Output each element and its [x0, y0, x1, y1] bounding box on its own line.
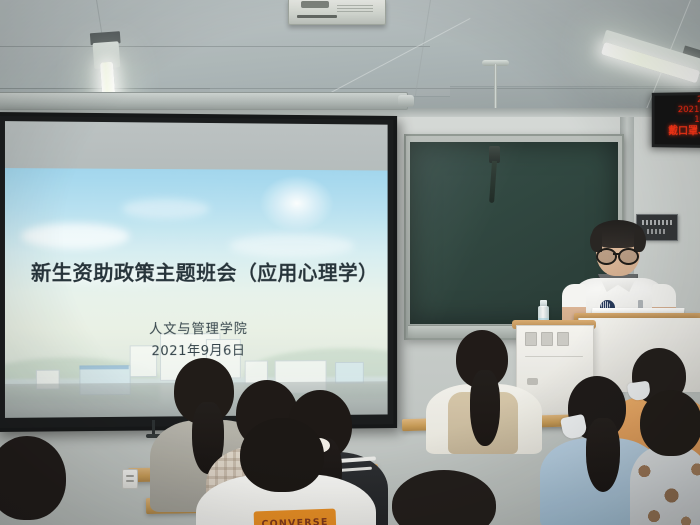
slide-subtitle: 人文与管理学院 2021年9月6日 [5, 317, 388, 360]
classroom-photo: 20 2021年 18: 戴口罩、 [0, 0, 700, 525]
ceiling-projector [288, 0, 386, 25]
led-line-3: 18: [655, 115, 700, 125]
student-edge-bottom-right [392, 470, 502, 525]
led-line-1: 20 [655, 95, 700, 105]
speaker-glasses-left-lens [596, 248, 617, 265]
slide-subtitle-org: 人文与管理学院 [5, 317, 388, 338]
student-torso [630, 446, 700, 525]
led-line-4: 戴口罩、 [655, 125, 700, 137]
student-beige-pinafore [426, 330, 542, 450]
slide-sun [260, 175, 335, 232]
led-line-2: 2021年 [655, 105, 700, 115]
screen-roller-casing [0, 92, 408, 110]
converse-logo: CONVERSE [254, 509, 337, 525]
student-converse-tee: CONVERSE [196, 418, 376, 525]
student-ponytail [470, 370, 500, 446]
wall-power-outlet [122, 469, 138, 489]
speaker-hair-right [634, 230, 646, 252]
student-head [0, 436, 66, 520]
student-ponytail [586, 418, 620, 492]
projector-label [337, 5, 373, 14]
student-edge-left [0, 436, 78, 525]
led-display-board: 20 2021年 18: 戴口罩、 [652, 92, 700, 148]
slide-subtitle-date: 2021年9月6日 [5, 338, 388, 360]
screen-roller-end [398, 95, 414, 107]
speaker-glasses-bridge [613, 253, 620, 255]
slide-top-band [5, 121, 388, 170]
blackboard-glare [410, 142, 524, 324]
slide-title: 新生资助政策主题班会（应用心理学） [31, 256, 378, 286]
student-head [640, 390, 700, 456]
projector-vent [297, 15, 337, 18]
projector-lens [301, 1, 329, 8]
student-head [240, 418, 324, 492]
speaker-glasses-right-lens [618, 248, 639, 265]
student-bear-print-shirt [630, 390, 700, 525]
student-head [392, 470, 496, 525]
